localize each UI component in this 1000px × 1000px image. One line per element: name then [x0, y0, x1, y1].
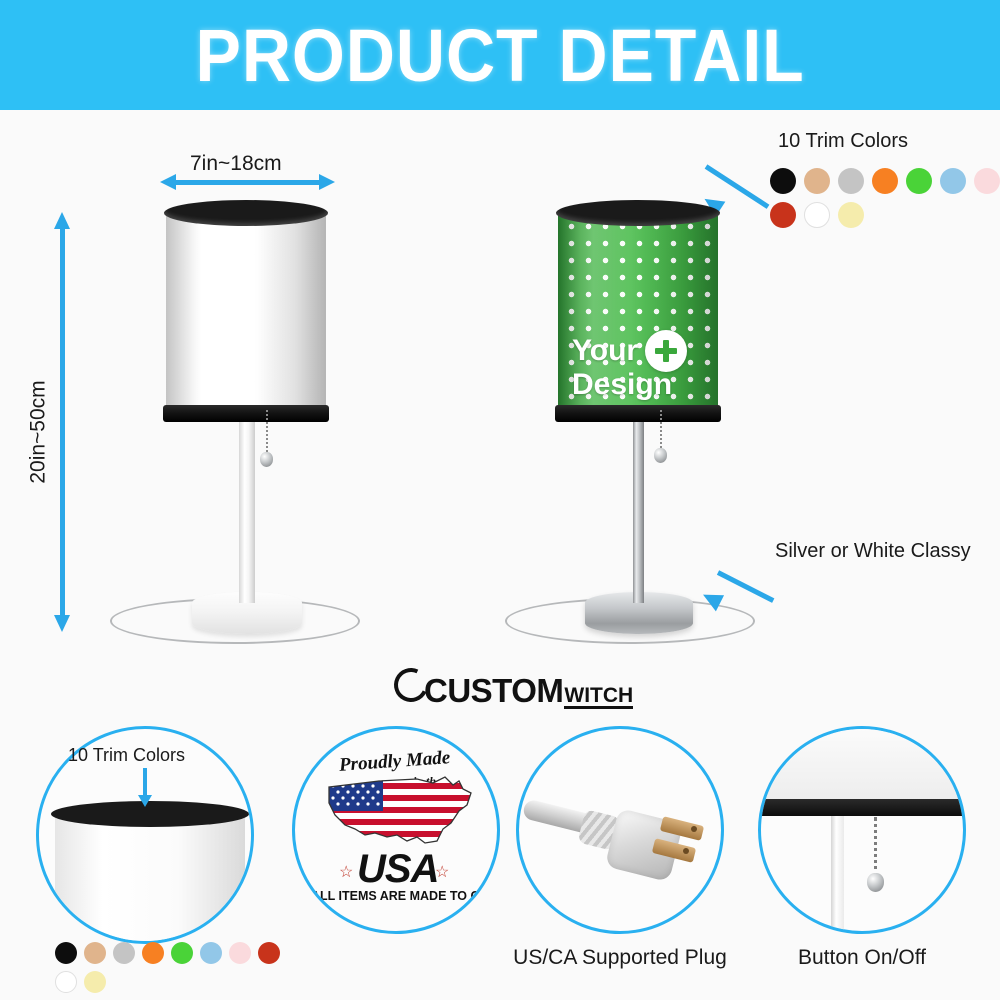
plus-icon[interactable]	[645, 330, 687, 372]
plug-prong-hole-lower	[683, 848, 689, 854]
lampshade-green: Your Design	[558, 212, 718, 414]
feature-switch-caption: Button On/Off	[742, 946, 982, 970]
feature-circle-switch	[758, 726, 966, 934]
shade-trim-bottom-green	[555, 405, 721, 422]
trim-circle-shade	[55, 817, 245, 944]
swatch-pink[interactable]	[229, 942, 251, 964]
usa-star-right-icon: ☆	[435, 862, 449, 882]
switch-circle-pole	[831, 816, 844, 934]
swatch-tan[interactable]	[84, 942, 106, 964]
swatch-gray[interactable]	[113, 942, 135, 964]
your-design-line2: Design	[572, 368, 672, 402]
silver-white-label: Silver or White Classy	[775, 540, 971, 563]
swatch-red[interactable]	[258, 942, 280, 964]
switch-circle-chain[interactable]	[874, 817, 877, 877]
feature-trim-colors-caption: 10 Trim Colors	[68, 745, 185, 766]
feature-plug-caption: US/CA Supported Plug	[500, 946, 740, 970]
usa-star-left-icon: ☆	[339, 862, 353, 882]
logo-sub-text: WITCH	[564, 686, 633, 709]
shade-trim-top-green	[556, 200, 720, 226]
trim-color-swatches-bottom[interactable]	[55, 942, 305, 993]
usa-text: USA	[357, 847, 438, 892]
feature-circle-made-in-usa: Proudly Made in the	[292, 726, 500, 934]
switch-circle-trim-bar	[758, 799, 966, 816]
your-design-line1: Your	[572, 334, 638, 368]
swatch-green[interactable]	[171, 942, 193, 964]
swatch-pale-yellow[interactable]	[84, 971, 106, 993]
usa-made-to-order-text: ALL ITEMS ARE MADE TO ORDER!	[311, 889, 500, 903]
plug-prong-hole-upper	[691, 826, 697, 832]
pull-chain-ball-silver[interactable]	[654, 448, 667, 463]
swatch-black[interactable]	[55, 942, 77, 964]
logo-main-text: CUSTOM	[424, 672, 563, 710]
pull-chain-silver[interactable]	[660, 410, 662, 452]
feature-circle-plug	[516, 726, 724, 934]
switch-circle-shade	[758, 729, 966, 801]
lamp-pole-silver	[633, 418, 644, 603]
swatch-white[interactable]	[55, 971, 77, 993]
swatch-light-blue[interactable]	[200, 942, 222, 964]
feature-trim-arrow-head	[138, 795, 152, 807]
feature-trim-arrow-line	[143, 768, 147, 798]
swatch-orange[interactable]	[142, 942, 164, 964]
lamp-green: Your Design	[0, 0, 1000, 680]
brand-logo: CUSTOM WITCH	[394, 668, 633, 710]
switch-circle-chain-ball[interactable]	[867, 873, 884, 892]
infographic-canvas: PRODUCT DETAIL 10 Trim Colors 7in~18cm 2…	[0, 0, 1000, 1000]
